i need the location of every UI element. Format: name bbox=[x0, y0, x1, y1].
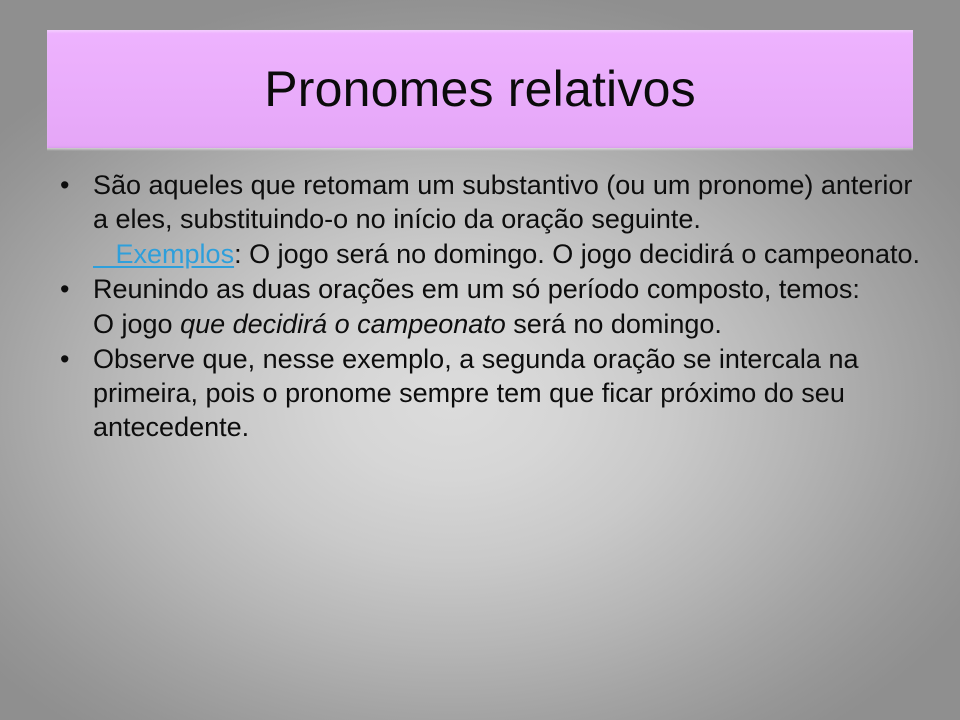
slide-canvas: Pronomes relativos • São aqueles que ret… bbox=[0, 0, 960, 720]
bullet-paragraph-3: • Observe que, nesse exemplo, a segunda … bbox=[48, 342, 928, 444]
title-placeholder[interactable]: Pronomes relativos bbox=[47, 30, 913, 148]
example-sentence-paragraph: O jogo que decidirá o campeonato será no… bbox=[48, 307, 928, 341]
example-sentence-suffix: será no domingo. bbox=[506, 309, 722, 339]
exemplos-hyperlink[interactable]: Exemplos bbox=[116, 239, 235, 269]
example-paragraph-text: : O jogo será no domingo. O jogo decidir… bbox=[234, 239, 920, 269]
body-placeholder[interactable]: • São aqueles que retomam um substantivo… bbox=[48, 168, 928, 445]
example-sentence-prefix: O jogo bbox=[93, 309, 180, 339]
paragraph-text-1: São aqueles que retomam um substantivo (… bbox=[93, 170, 912, 234]
relative-clause-italic: que decidirá o campeonato bbox=[180, 309, 506, 339]
page-title: Pronomes relativos bbox=[47, 63, 913, 116]
hyperlink-leading-space bbox=[93, 239, 116, 269]
example-paragraph: Exemplos: O jogo será no domingo. O jogo… bbox=[48, 237, 928, 271]
bullet-point-icon: • bbox=[60, 342, 80, 376]
bullet-point-icon: • bbox=[60, 272, 80, 306]
bullet-point-icon: • bbox=[60, 168, 80, 202]
paragraph-text-3: Observe que, nesse exemplo, a segunda or… bbox=[93, 344, 858, 442]
bullet-paragraph-2: • Reunindo as duas orações em um só perí… bbox=[48, 272, 928, 306]
paragraph-text-2: Reunindo as duas orações em um só períod… bbox=[93, 274, 860, 304]
bullet-paragraph-1: • São aqueles que retomam um substantivo… bbox=[48, 168, 928, 236]
